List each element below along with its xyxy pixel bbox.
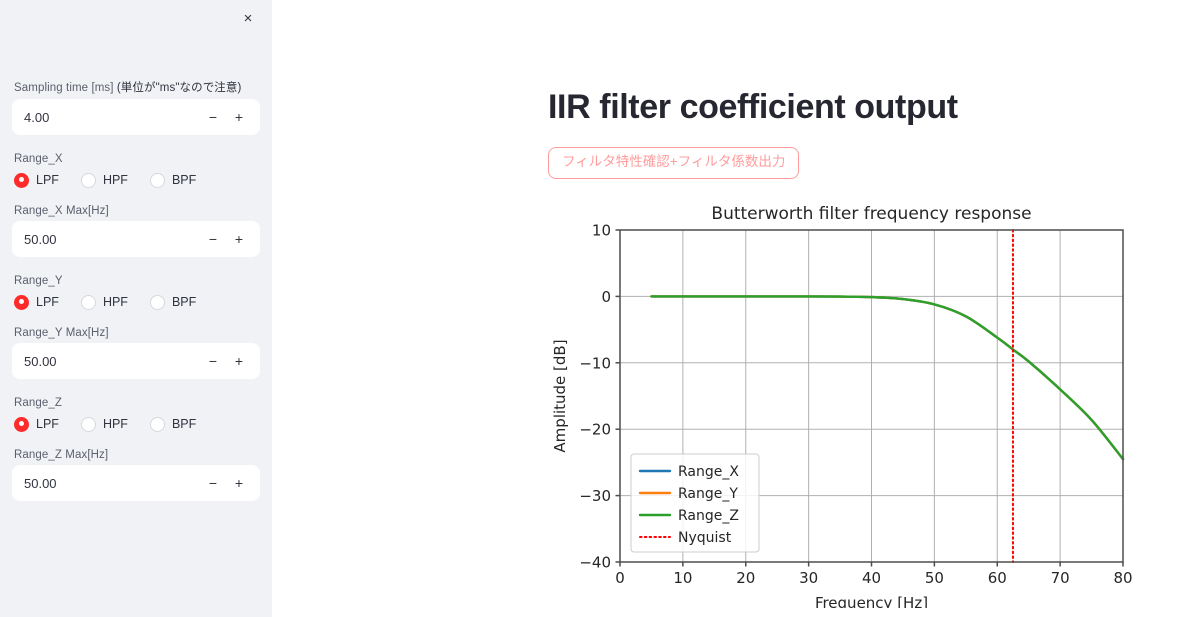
range-y-max-value: 50.00 — [24, 354, 200, 369]
settings-sidebar: × Sampling time [ms] (単位が"ms"なので注意) 4.00… — [0, 0, 272, 617]
range-z-option-bpf[interactable]: BPF — [150, 417, 196, 432]
range-x-max-value: 50.00 — [24, 232, 200, 247]
range-y-max-input[interactable]: 50.00 − + — [12, 343, 260, 379]
svg-text:30: 30 — [799, 569, 818, 587]
radio-icon — [150, 173, 165, 188]
svg-text:50: 50 — [925, 569, 944, 587]
range-x-option-lpf[interactable]: LPF — [14, 173, 59, 188]
svg-text:10: 10 — [592, 222, 611, 240]
range-x-max-label: Range_X Max[Hz] — [12, 205, 260, 217]
range-y-option-bpf-label: BPF — [172, 295, 196, 309]
sampling-time-label-jp: (単位が"ms"なので注意) — [117, 82, 242, 94]
svg-text:Range_Y: Range_Y — [678, 486, 738, 502]
range-y-option-hpf-label: HPF — [103, 295, 128, 309]
range-z-option-lpf[interactable]: LPF — [14, 417, 59, 432]
range-z-max-input[interactable]: 50.00 − + — [12, 465, 260, 501]
range-x-max-input[interactable]: 50.00 − + — [12, 221, 260, 257]
svg-text:0: 0 — [601, 288, 611, 306]
sampling-time-decrement-button[interactable]: − — [200, 104, 226, 130]
chart-ylabel: Amplitude [dB] — [551, 339, 569, 452]
sampling-time-increment-button[interactable]: + — [226, 104, 252, 130]
svg-text:−30: −30 — [579, 487, 611, 505]
range-z-option-hpf-label: HPF — [103, 417, 128, 431]
sampling-time-value: 4.00 — [24, 110, 200, 125]
range-x-max-decrement-button[interactable]: − — [200, 226, 226, 252]
radio-icon — [150, 417, 165, 432]
svg-text:−20: −20 — [579, 421, 611, 439]
range-y-option-lpf-label: LPF — [36, 295, 59, 309]
radio-icon — [81, 173, 96, 188]
svg-text:Range_X: Range_X — [678, 464, 739, 480]
radio-icon — [81, 417, 96, 432]
range-x-option-hpf[interactable]: HPF — [81, 173, 128, 188]
range-z-max-decrement-button[interactable]: − — [200, 470, 226, 496]
range-x-option-hpf-label: HPF — [103, 173, 128, 187]
sampling-time-input[interactable]: 4.00 − + — [12, 99, 260, 135]
svg-text:10: 10 — [673, 569, 692, 587]
radio-icon — [150, 295, 165, 310]
range-z-option-hpf[interactable]: HPF — [81, 417, 128, 432]
range-z-option-bpf-label: BPF — [172, 417, 196, 431]
range-x-option-bpf[interactable]: BPF — [150, 173, 196, 188]
range-z-max-increment-button[interactable]: + — [226, 470, 252, 496]
chart-title: Butterworth filter frequency response — [711, 204, 1031, 224]
range-x-max-increment-button[interactable]: + — [226, 226, 252, 252]
range-y-option-lpf[interactable]: LPF — [14, 295, 59, 310]
chart-xlabel: Frequency [Hz] — [815, 594, 928, 608]
svg-text:40: 40 — [862, 569, 881, 587]
range-x-option-lpf-label: LPF — [36, 173, 59, 187]
chart-series-layer — [651, 296, 1123, 459]
radio-icon — [14, 295, 29, 310]
frequency-response-chart: 01020304050607080100−10−20−30−40 Butterw… — [545, 196, 1145, 608]
page-title: IIR filter coefficient output — [548, 88, 1200, 127]
radio-icon — [14, 417, 29, 432]
range-z-max-label: Range_Z Max[Hz] — [12, 449, 260, 461]
svg-text:0: 0 — [615, 569, 625, 587]
svg-text:60: 60 — [988, 569, 1007, 587]
sampling-time-label: Sampling time [ms] (単位が"ms"なので注意) — [12, 79, 260, 95]
chart-svg: 01020304050607080100−10−20−30−40 Butterw… — [545, 196, 1145, 608]
svg-text:−10: −10 — [579, 354, 611, 372]
svg-text:20: 20 — [736, 569, 755, 587]
range-z-label: Range_Z — [12, 397, 260, 409]
app-root: × Sampling time [ms] (単位が"ms"なので注意) 4.00… — [0, 0, 1200, 617]
range-x-option-bpf-label: BPF — [172, 173, 196, 187]
svg-text:Nyquist: Nyquist — [678, 530, 732, 546]
radio-icon — [14, 173, 29, 188]
range-y-max-increment-button[interactable]: + — [226, 348, 252, 374]
sampling-time-label-en: Sampling time [ms] — [14, 82, 117, 94]
chart-legend: Range_XRange_YRange_ZNyquist — [631, 454, 759, 552]
range-y-max-decrement-button[interactable]: − — [200, 348, 226, 374]
range-z-option-lpf-label: LPF — [36, 417, 59, 431]
range-x-radio-group: LPF HPF BPF — [12, 169, 260, 191]
range-z-max-value: 50.00 — [24, 476, 200, 491]
range-y-max-label: Range_Y Max[Hz] — [12, 327, 260, 339]
run-filter-button[interactable]: フィルタ特性確認+フィルタ係数出力 — [548, 147, 799, 179]
svg-text:80: 80 — [1113, 569, 1132, 587]
svg-text:Range_Z: Range_Z — [678, 508, 739, 524]
close-icon[interactable]: × — [236, 6, 260, 30]
range-z-radio-group: LPF HPF BPF — [12, 413, 260, 435]
range-y-option-bpf[interactable]: BPF — [150, 295, 196, 310]
svg-text:−40: −40 — [579, 554, 611, 572]
range-y-option-hpf[interactable]: HPF — [81, 295, 128, 310]
range-y-radio-group: LPF HPF BPF — [12, 291, 260, 313]
svg-text:70: 70 — [1051, 569, 1070, 587]
range-y-label: Range_Y — [12, 275, 260, 287]
range-x-label: Range_X — [12, 153, 260, 165]
radio-icon — [81, 295, 96, 310]
sidebar-body: Sampling time [ms] (単位が"ms"なので注意) 4.00 −… — [12, 0, 260, 501]
